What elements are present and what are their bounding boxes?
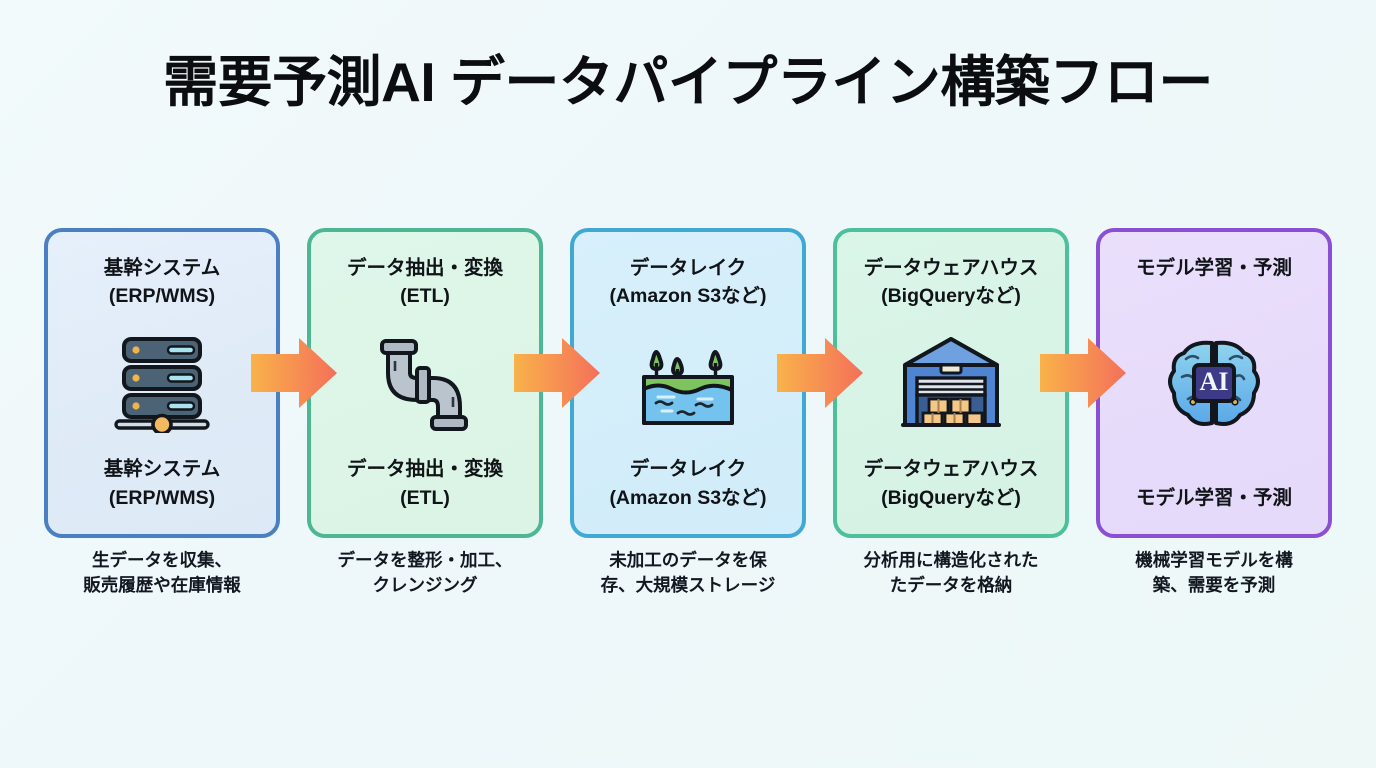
stage-title: データ抽出・変換 (ETL) xyxy=(321,254,529,311)
arrow-gap-4 xyxy=(1069,228,1096,538)
stage-label: モデル学習・予測 xyxy=(1110,484,1318,512)
caption-model-training: 機械学習モデルを構 築、需要を予測 xyxy=(1096,548,1332,599)
stage-model-training[interactable]: モデル学習・予測 xyxy=(1096,228,1332,538)
stage-label-line2: (BigQueryなど) xyxy=(847,484,1055,512)
stage-label-line2: (ETL) xyxy=(321,484,529,512)
caption-line2: 販売履歴や在庫情報 xyxy=(46,573,278,598)
stage-label-line2: (Amazon S3など) xyxy=(584,484,792,512)
stage-title-line2: (ETL) xyxy=(321,282,529,310)
arrow-gap-1 xyxy=(280,228,307,538)
warehouse-icon xyxy=(891,328,1011,438)
caption-line2: 築、需要を予測 xyxy=(1098,573,1330,598)
stage-title-line1: データレイク xyxy=(584,254,792,282)
stage-etl[interactable]: データ抽出・変換 (ETL) データ抽出・変換 (ETL) xyxy=(307,228,543,538)
captions-row: 生データを収集、 販売履歴や在庫情報 データを整形・加工、 クレンジング 未加工… xyxy=(44,548,1332,599)
stage-title-line2: (ERP/WMS) xyxy=(58,282,266,310)
stage-data-warehouse[interactable]: データウェアハウス (BigQueryなど) xyxy=(833,228,1069,538)
svg-text:AI: AI xyxy=(1200,367,1229,396)
caption-line2: たデータを格納 xyxy=(835,573,1067,598)
caption-line1: データを整形・加工、 xyxy=(309,548,541,573)
stage-label-line1: データ抽出・変換 xyxy=(321,455,529,483)
stage-label: データ抽出・変換 (ETL) xyxy=(321,455,529,512)
stage-title-line1: 基幹システム xyxy=(58,254,266,282)
stage-label: 基幹システム (ERP/WMS) xyxy=(58,455,266,512)
stage-title-line1: データウェアハウス xyxy=(847,254,1055,282)
stage-label-line1: 基幹システム xyxy=(58,455,266,483)
pipeline-flow: 基幹システム (ERP/WMS) 基幹システ xyxy=(44,228,1332,538)
arrow-right-icon-1 xyxy=(251,336,337,410)
server-rack-icon xyxy=(102,328,222,438)
caption-data-lake: 未加工のデータを保 存、大規模ストレージ xyxy=(570,548,806,599)
stage-title-line2: (BigQueryなど) xyxy=(847,282,1055,310)
stage-label: データウェアハウス (BigQueryなど) xyxy=(847,455,1055,512)
ai-brain-icon: AI xyxy=(1154,328,1274,438)
caption-line1: 分析用に構造化された xyxy=(835,548,1067,573)
title-bar: 需要予測AI データパイプライン構築フロー xyxy=(0,52,1376,113)
caption-line1: 生データを収集、 xyxy=(46,548,278,573)
caption-etl: データを整形・加工、 クレンジング xyxy=(307,548,543,599)
stage-title-line1: モデル学習・予測 xyxy=(1110,254,1318,282)
caption-line1: 未加工のデータを保 xyxy=(572,548,804,573)
stage-label: データレイク (Amazon S3など) xyxy=(584,455,792,512)
stage-title: 基幹システム (ERP/WMS) xyxy=(58,254,266,311)
caption-core-system: 生データを収集、 販売履歴や在庫情報 xyxy=(44,548,280,599)
stage-data-lake[interactable]: データレイク (Amazon S3など) xyxy=(570,228,806,538)
stage-label-line1: モデル学習・予測 xyxy=(1110,484,1318,512)
caption-line2: クレンジング xyxy=(309,573,541,598)
stage-title: モデル学習・予測 xyxy=(1110,254,1318,282)
stage-label-line1: データレイク xyxy=(584,455,792,483)
stage-core-system[interactable]: 基幹システム (ERP/WMS) 基幹システ xyxy=(44,228,280,538)
pipe-icon xyxy=(365,328,485,438)
data-lake-icon xyxy=(628,328,748,438)
arrow-gap-3 xyxy=(806,228,833,538)
caption-data-warehouse: 分析用に構造化された たデータを格納 xyxy=(833,548,1069,599)
arrow-right-icon-2 xyxy=(514,336,600,410)
caption-line1: 機械学習モデルを構 xyxy=(1098,548,1330,573)
page-title: 需要予測AI データパイプライン構築フロー xyxy=(0,52,1376,113)
arrow-right-icon-3 xyxy=(777,336,863,410)
arrow-right-icon-4 xyxy=(1040,336,1126,410)
stage-title-line1: データ抽出・変換 xyxy=(321,254,529,282)
stage-title: データウェアハウス (BigQueryなど) xyxy=(847,254,1055,311)
arrow-gap-2 xyxy=(543,228,570,538)
caption-line2: 存、大規模ストレージ xyxy=(572,573,804,598)
stage-label-line1: データウェアハウス xyxy=(847,455,1055,483)
stage-title-line2: (Amazon S3など) xyxy=(584,282,792,310)
stage-label-line2: (ERP/WMS) xyxy=(58,484,266,512)
stage-title: データレイク (Amazon S3など) xyxy=(584,254,792,311)
